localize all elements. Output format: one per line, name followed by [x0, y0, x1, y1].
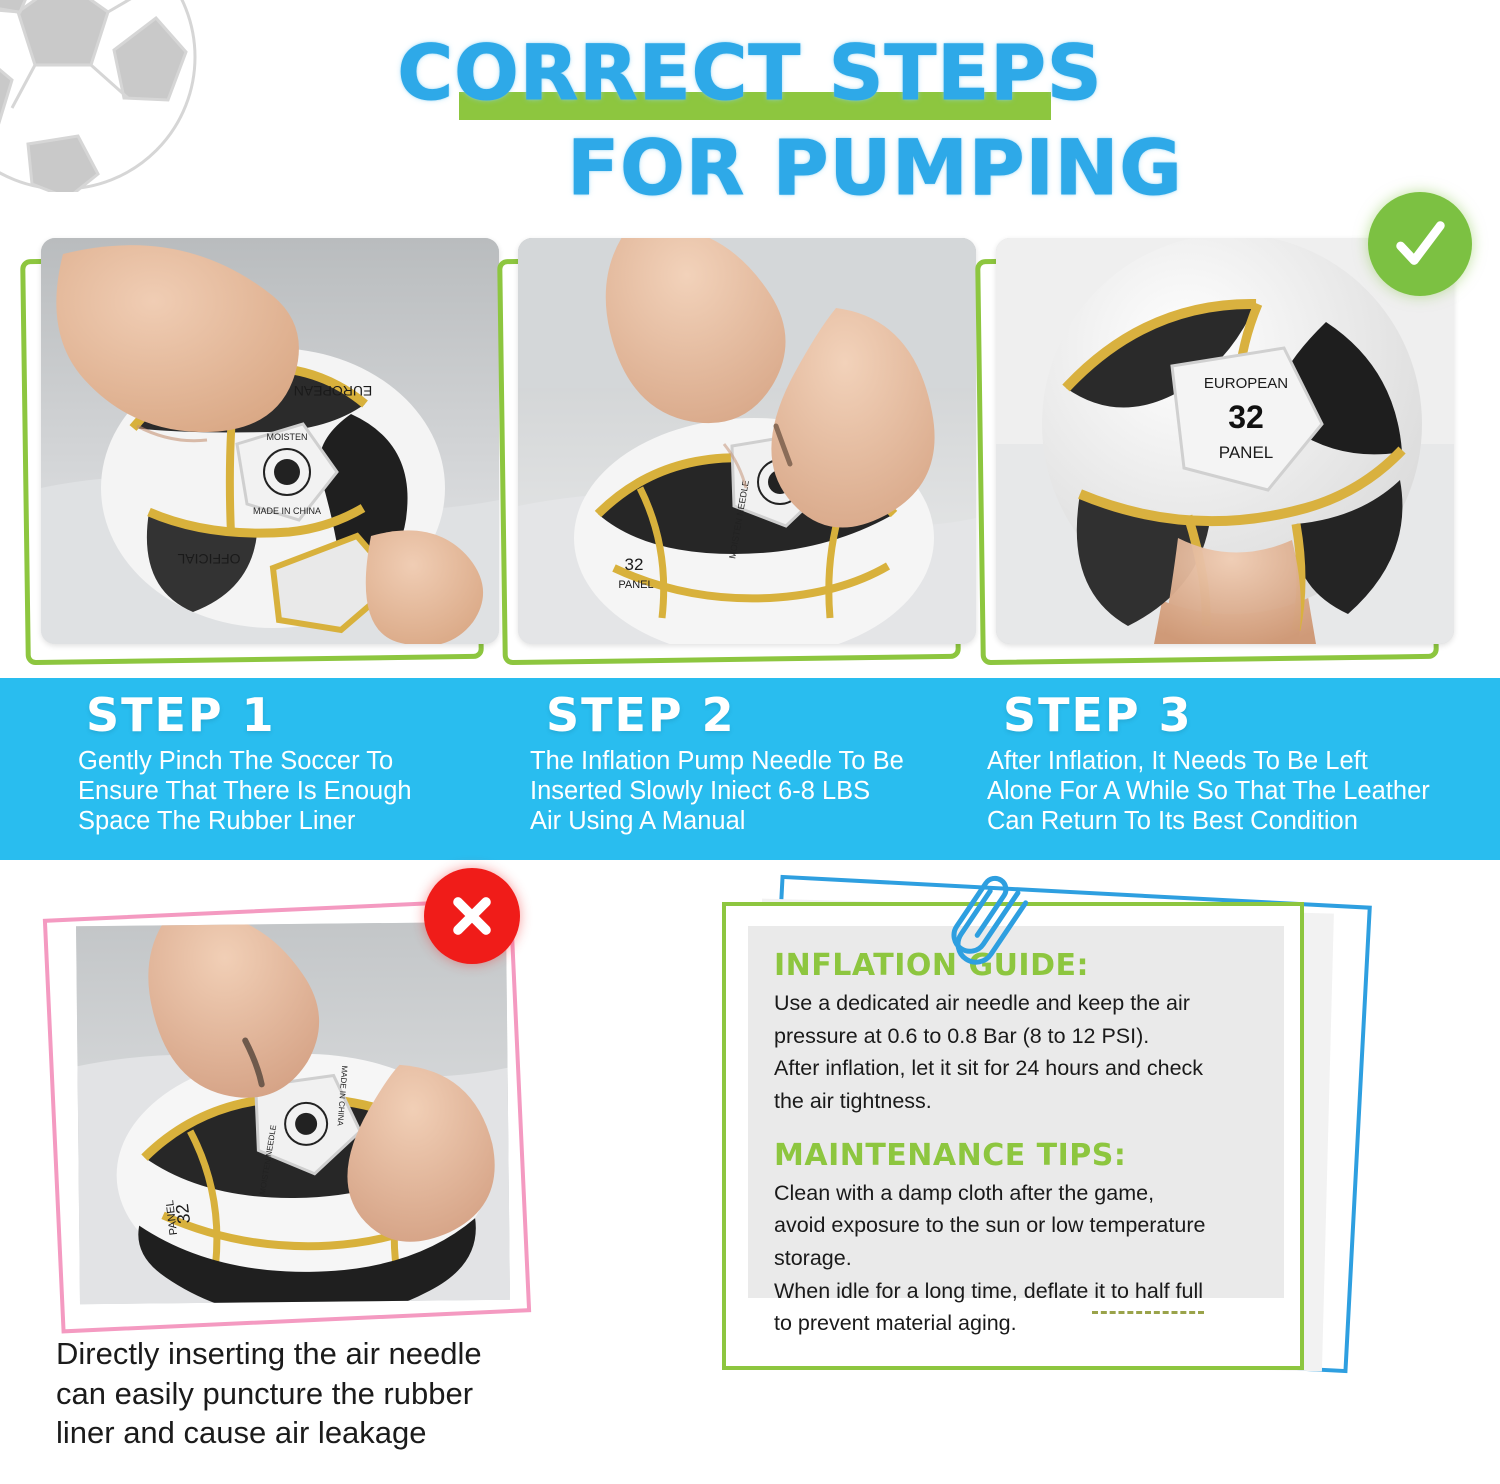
incorrect-method-caption: Directly inserting the air needle can ea…	[56, 1334, 576, 1453]
inflation-guide-line-2: pressure at 0.6 to 0.8 Bar (8 to 12 PSI)…	[774, 1020, 1260, 1053]
svg-text:PANEL: PANEL	[1219, 443, 1274, 462]
step-1-photo: MOISTEN MADE IN CHINA EUROPEAN OFFICIAL	[41, 238, 499, 644]
inflation-guide-line-4: the air tightness.	[774, 1085, 1260, 1118]
wrong-caption-line-3: liner and cause air leakage	[56, 1413, 576, 1453]
maintenance-tips-line-2: avoid exposure to the sun or low tempera…	[774, 1209, 1260, 1274]
title-text-2: FOR PUMPING	[567, 123, 1183, 212]
maintenance-tips-line-3: When idle for a long time, deflate it to…	[774, 1275, 1260, 1308]
svg-text:EUROPEAN: EUROPEAN	[294, 383, 373, 399]
svg-text:EUROPEAN: EUROPEAN	[1204, 375, 1288, 392]
maintenance-tips-section: MAINTENANCE TIPS: Clean with a damp clot…	[774, 1138, 1260, 1340]
svg-text:32: 32	[625, 555, 644, 574]
title-line-2: FOR PUMPING	[250, 123, 1500, 212]
step-1-line-1: Gently Pinch The Soccer To	[78, 746, 508, 776]
step-photo-row: MOISTEN MADE IN CHINA EUROPEAN OFFICIAL	[0, 228, 1500, 658]
infographic-root: CORRECT STEPS FOR PUMPING	[0, 0, 1500, 1484]
inflation-guide-heading: INFLATION GUIDE:	[774, 948, 1260, 983]
step-2-line-2: Inserted Slowly Iniect 6-8 LBS	[530, 776, 968, 806]
inflation-guide-body: Use a dedicated air needle and keep the …	[774, 987, 1260, 1118]
step-2-photo-card: MADE IN CHINA MOISTEN NEEDLE 32 PANEL	[518, 238, 976, 644]
pink-frame	[43, 898, 531, 1334]
step-3-line-2: Alone For A While So That The Leather	[987, 776, 1485, 806]
maintenance-tips-heading: MAINTENANCE TIPS:	[774, 1138, 1260, 1173]
info-card-content: INFLATION GUIDE: Use a dedicated air nee…	[748, 926, 1284, 1298]
svg-text:32: 32	[1228, 399, 1264, 435]
step-1-block: STEP 1 Gently Pinch The Soccer To Ensure…	[68, 678, 508, 860]
step-2-label: STEP 2	[546, 688, 968, 742]
title-text-1: CORRECT STEPS	[397, 28, 1102, 117]
step-1-label: STEP 1	[86, 688, 508, 742]
step-3-description: After Inflation, It Needs To Be Left Alo…	[987, 746, 1485, 836]
inflation-guide-section: INFLATION GUIDE: Use a dedicated air nee…	[774, 948, 1260, 1118]
check-icon	[1368, 192, 1472, 296]
step-1-description: Gently Pinch The Soccer To Ensure That T…	[78, 746, 508, 836]
step-3-line-1: After Inflation, It Needs To Be Left	[987, 746, 1485, 776]
step-1-line-3: Space The Rubber Liner	[78, 806, 508, 836]
step-2-photo: MADE IN CHINA MOISTEN NEEDLE 32 PANEL	[518, 238, 976, 644]
step-3-block: STEP 3 After Inflation, It Needs To Be L…	[985, 678, 1485, 860]
info-card: INFLATION GUIDE: Use a dedicated air nee…	[722, 902, 1304, 1370]
wrong-caption-line-2: can easily puncture the rubber	[56, 1374, 576, 1414]
title-line-1: CORRECT STEPS	[397, 28, 1102, 117]
step-2-description: The Inflation Pump Needle To Be Inserted…	[530, 746, 968, 836]
cross-icon	[424, 868, 520, 964]
svg-text:OFFICIAL: OFFICIAL	[177, 551, 240, 567]
maintenance-tips-body: Clean with a damp cloth after the game, …	[774, 1177, 1260, 1340]
card-dashed-rule	[1092, 1311, 1204, 1314]
inflation-guide-line-1: Use a dedicated air needle and keep the …	[774, 987, 1260, 1020]
steps-band: STEP 1 Gently Pinch The Soccer To Ensure…	[0, 678, 1500, 860]
svg-text:MOISTEN: MOISTEN	[266, 432, 307, 442]
step-1-photo-card: MOISTEN MADE IN CHINA EUROPEAN OFFICIAL	[41, 238, 499, 644]
step-3-photo: EUROPEAN 32 PANEL	[996, 238, 1454, 644]
svg-text:PANEL: PANEL	[618, 579, 653, 591]
inflation-guide-line-3: After inflation, let it sit for 24 hours…	[774, 1052, 1260, 1085]
svg-text:MADE IN CHINA: MADE IN CHINA	[253, 506, 321, 516]
section-divider	[774, 1118, 1260, 1138]
step-2-block: STEP 2 The Inflation Pump Needle To Be I…	[528, 678, 968, 860]
info-card-area: INFLATION GUIDE: Use a dedicated air nee…	[700, 876, 1500, 1476]
step-2-line-3: Air Using A Manual	[530, 806, 968, 836]
step-2-line-1: The Inflation Pump Needle To Be	[530, 746, 968, 776]
step-1-line-2: Ensure That There Is Enough	[78, 776, 508, 806]
wrong-caption-line-1: Directly inserting the air needle	[56, 1334, 576, 1374]
step-3-label: STEP 3	[1003, 688, 1485, 742]
maintenance-tips-line-1: Clean with a damp cloth after the game,	[774, 1177, 1260, 1210]
step-3-photo-card: EUROPEAN 32 PANEL	[996, 238, 1454, 644]
page-title: CORRECT STEPS FOR PUMPING	[0, 28, 1500, 212]
step-3-line-3: Can Return To Its Best Condition	[987, 806, 1485, 836]
